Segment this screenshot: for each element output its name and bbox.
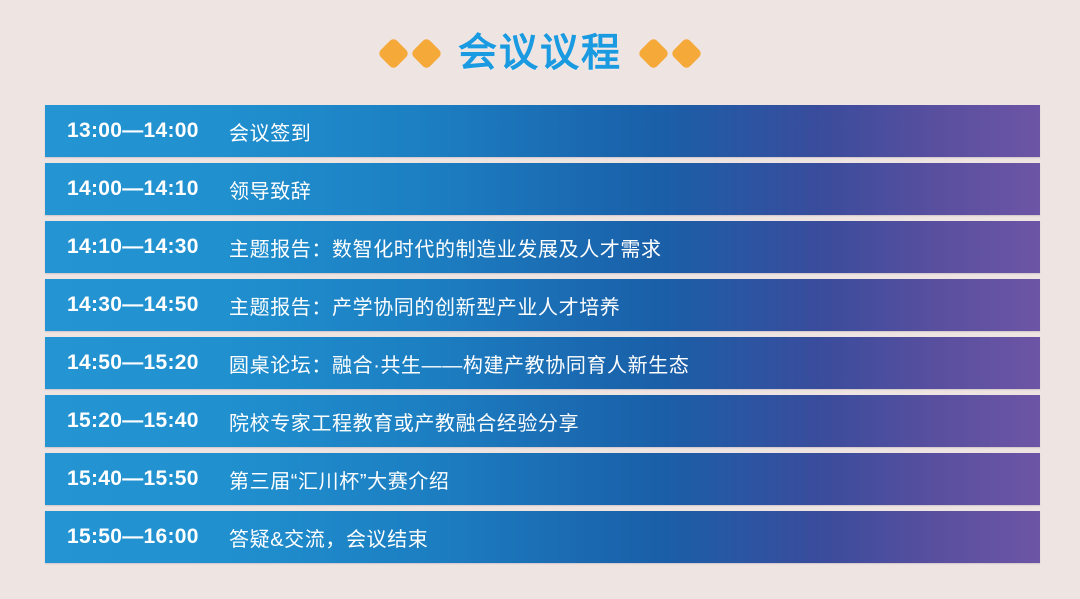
- diamond-icon: [377, 37, 410, 70]
- agenda-row-time: 14:10—14:30: [67, 235, 229, 259]
- diamond-icon: [637, 37, 670, 70]
- agenda-row-topic: 会议签到: [229, 117, 1040, 146]
- agenda-row-time: 15:50—16:00: [67, 525, 229, 549]
- agenda-row-time: 15:40—15:50: [67, 467, 229, 491]
- agenda-row-time: 14:00—14:10: [67, 177, 229, 201]
- agenda-list: 13:00—14:00 会议签到 14:00—14:10 领导致辞 14:10—…: [45, 105, 1040, 563]
- page-header: 会议议程: [0, 0, 1080, 100]
- diamond-icon: [410, 37, 443, 70]
- agenda-row-time: 14:30—14:50: [67, 293, 229, 317]
- agenda-row: 15:20—15:40 院校专家工程教育或产教融合经验分享: [45, 395, 1040, 447]
- agenda-row: 14:10—14:30 主题报告：数智化时代的制造业发展及人才需求: [45, 221, 1040, 273]
- page-title: 会议议程: [452, 34, 628, 73]
- right-diamond-group: [642, 42, 698, 65]
- agenda-row: 14:50—15:20 圆桌论坛：融合·共生——构建产教协同育人新生态: [45, 337, 1040, 389]
- agenda-row-topic: 圆桌论坛：融合·共生——构建产教协同育人新生态: [229, 349, 1040, 378]
- agenda-row: 15:50—16:00 答疑&交流，会议结束: [45, 511, 1040, 563]
- agenda-row-time: 14:50—15:20: [67, 351, 229, 375]
- agenda-row-topic: 主题报告：数智化时代的制造业发展及人才需求: [229, 233, 1040, 262]
- agenda-row: 14:30—14:50 主题报告：产学协同的创新型产业人才培养: [45, 279, 1040, 331]
- agenda-row: 14:00—14:10 领导致辞: [45, 163, 1040, 215]
- agenda-row-time: 13:00—14:00: [67, 119, 229, 143]
- agenda-row-topic: 第三届“汇川杯”大赛介绍: [229, 465, 1040, 494]
- agenda-row: 13:00—14:00 会议签到: [45, 105, 1040, 157]
- agenda-row-time: 15:20—15:40: [67, 409, 229, 433]
- agenda-row-topic: 院校专家工程教育或产教融合经验分享: [229, 407, 1040, 436]
- diamond-icon: [670, 37, 703, 70]
- agenda-row-topic: 主题报告：产学协同的创新型产业人才培养: [229, 291, 1040, 320]
- agenda-row: 15:40—15:50 第三届“汇川杯”大赛介绍: [45, 453, 1040, 505]
- left-diamond-group: [382, 42, 438, 65]
- agenda-row-topic: 领导致辞: [229, 175, 1040, 204]
- agenda-row-topic: 答疑&交流，会议结束: [229, 523, 1040, 552]
